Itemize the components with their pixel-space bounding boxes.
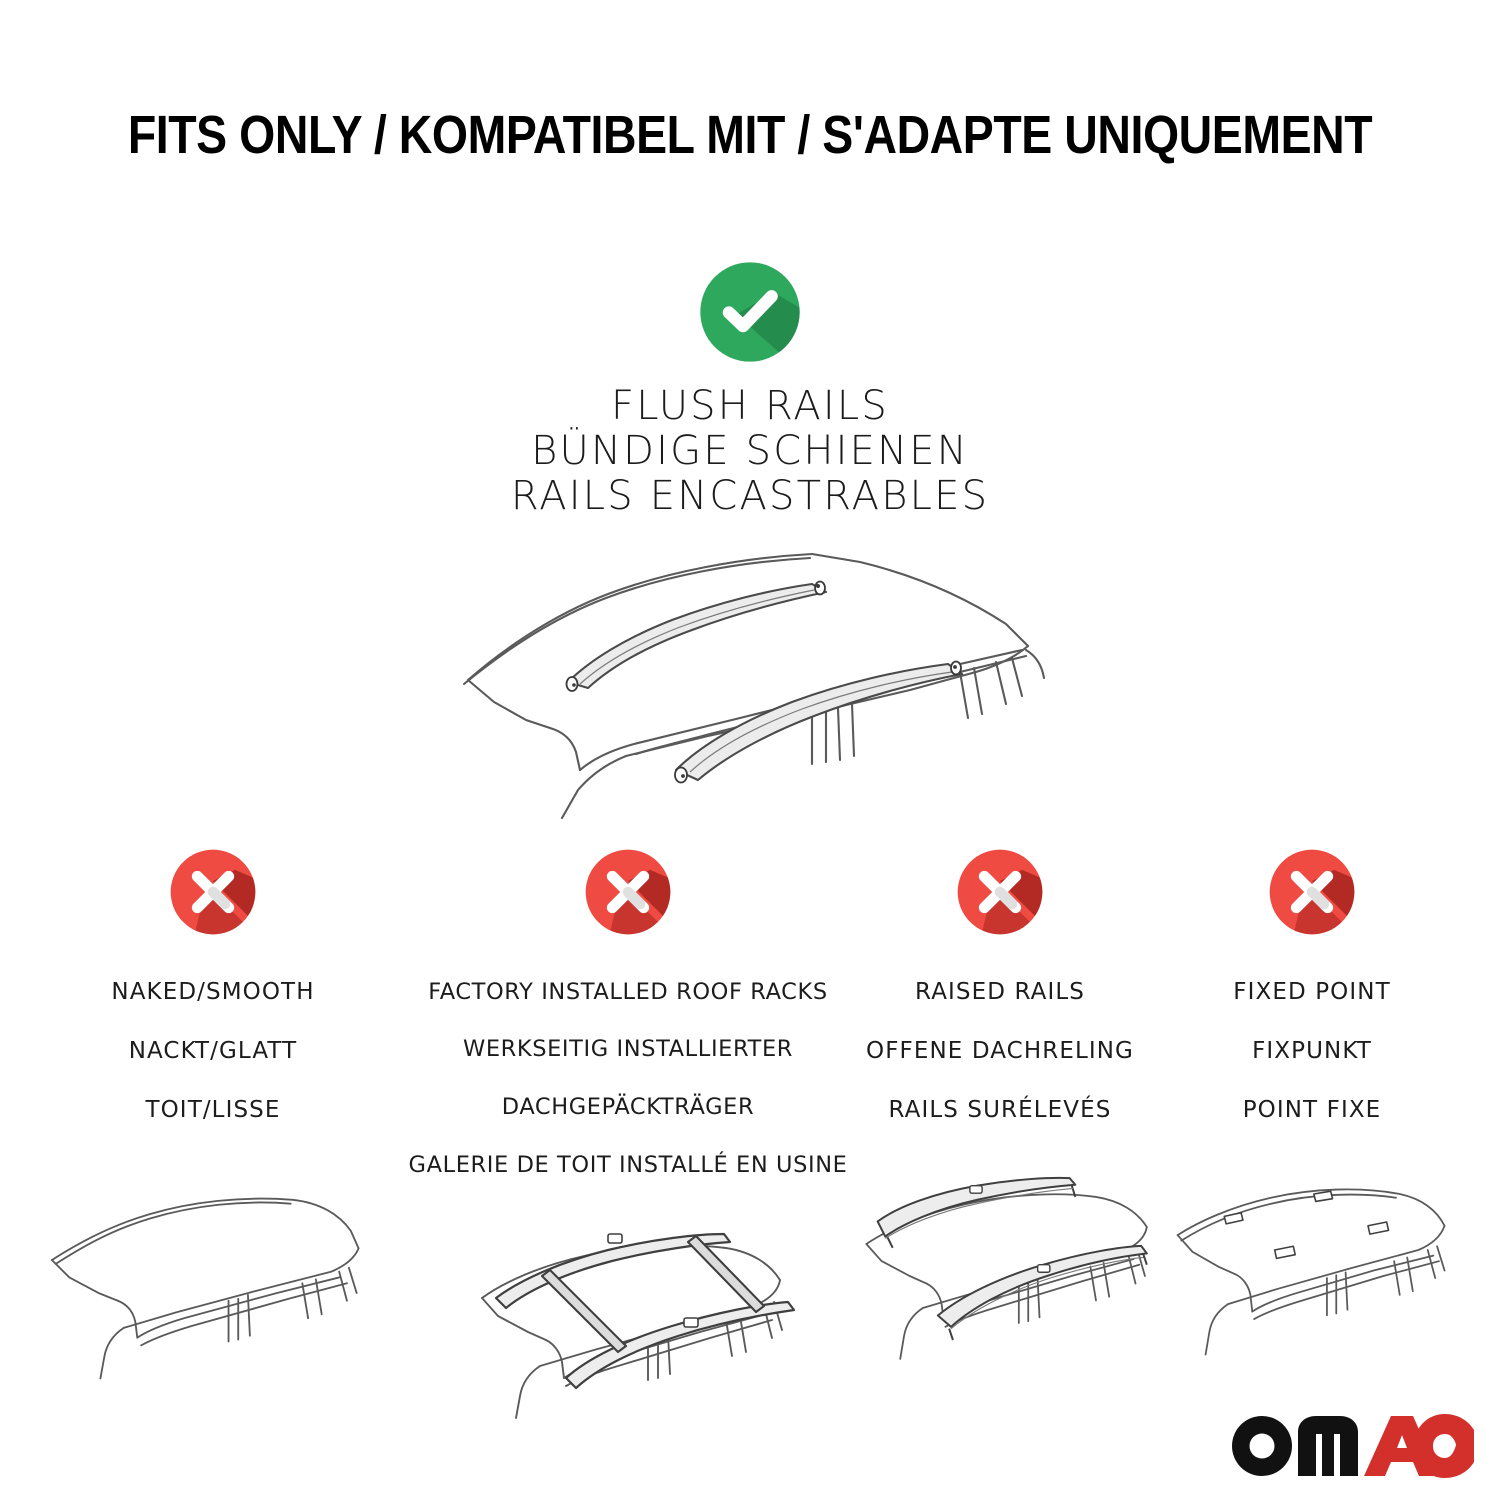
label-line-de: FIXPUNKT <box>1172 1037 1452 1066</box>
label-line-en: RAISED RAILS <box>840 978 1160 1007</box>
fixed-point-cover <box>1314 1191 1333 1201</box>
logo-letter-o <box>1232 1416 1292 1476</box>
compatible-section: FLUSH RAILS BÜNDIGE SCHIENEN RAILS ENCAS… <box>380 258 1120 837</box>
incompatible-label-raised-rails: RAISED RAILS OFFENE DACHRELING RAILS SUR… <box>840 949 1160 1155</box>
car-roof-factory-roof-racks-illustration <box>392 1220 864 1470</box>
cross-circle-icon <box>1266 846 1358 938</box>
incompatible-item-fixed-point: FIXED POINT FIXPUNKT POINT FIXE <box>1172 846 1452 1422</box>
car-roof-fixed-point-illustration <box>1172 1167 1452 1417</box>
flush-rail-near <box>675 662 962 783</box>
fixed-point-cover <box>1275 1246 1296 1258</box>
label-line-de: OFFENE DACHRELING <box>840 1037 1160 1066</box>
logo-letter-c <box>1414 1414 1474 1478</box>
label-line-en: NAKED/SMOOTH <box>48 978 378 1007</box>
cross-circle-icon <box>954 846 1046 938</box>
label-line-de: NACKT/GLATT <box>48 1037 378 1066</box>
compatible-label-line-en: FLUSH RAILS <box>380 384 1120 429</box>
incompatible-item-raised-rails: RAISED RAILS OFFENE DACHRELING RAILS SUR… <box>840 846 1160 1422</box>
compatible-label-line-de: BÜNDIGE SCHIENEN <box>380 429 1120 474</box>
label-line-de-1: WERKSEITIG INSTALLIERTER <box>392 1035 864 1064</box>
car-roof-raised-rails-illustration <box>840 1167 1160 1417</box>
label-line-de-2: DACHGEPÄCKTRÄGER <box>392 1093 864 1122</box>
fixed-point-cover <box>1224 1213 1243 1224</box>
car-roof-naked-smooth-illustration <box>48 1167 378 1417</box>
logo-letter-m <box>1298 1416 1358 1476</box>
label-line-en: FIXED POINT <box>1172 978 1452 1007</box>
label-line-fr: TOIT/LISSE <box>48 1096 378 1125</box>
label-line-fr: POINT FIXE <box>1172 1096 1452 1125</box>
incompatible-item-factory-roof-racks: FACTORY INSTALLED ROOF RACKS WERKSEITIG … <box>392 846 864 1475</box>
compatible-label-line-fr: RAILS ENCASTRABLES <box>380 474 1120 519</box>
cross-circle-icon <box>167 846 259 938</box>
incompatible-section: NAKED/SMOOTH NACKT/GLATT TOIT/LISSE <box>0 846 1500 1316</box>
check-circle-icon <box>696 258 804 366</box>
label-line-fr: RAILS SURÉLEVÉS <box>840 1096 1160 1125</box>
omac-logo <box>1228 1408 1474 1480</box>
incompatible-label-fixed-point: FIXED POINT FIXPUNKT POINT FIXE <box>1172 949 1452 1155</box>
fixed-point-cover <box>1368 1222 1389 1234</box>
cross-circle-icon <box>582 846 674 938</box>
label-line-fr: GALERIE DE TOIT INSTALLÉ EN USINE <box>392 1151 864 1180</box>
car-roof-flush-rails-illustration <box>380 532 1120 832</box>
incompatible-item-naked-smooth: NAKED/SMOOTH NACKT/GLATT TOIT/LISSE <box>48 846 378 1422</box>
compatible-label: FLUSH RAILS BÜNDIGE SCHIENEN RAILS ENCAS… <box>380 384 1120 518</box>
incompatible-label-factory-roof-racks: FACTORY INSTALLED ROOF RACKS WERKSEITIG … <box>392 949 864 1208</box>
incompatible-label-naked-smooth: NAKED/SMOOTH NACKT/GLATT TOIT/LISSE <box>48 949 378 1155</box>
label-line-en: FACTORY INSTALLED ROOF RACKS <box>392 978 864 1007</box>
page-title: FITS ONLY / KOMPATIBEL MIT / S'ADAPTE UN… <box>105 104 1395 166</box>
